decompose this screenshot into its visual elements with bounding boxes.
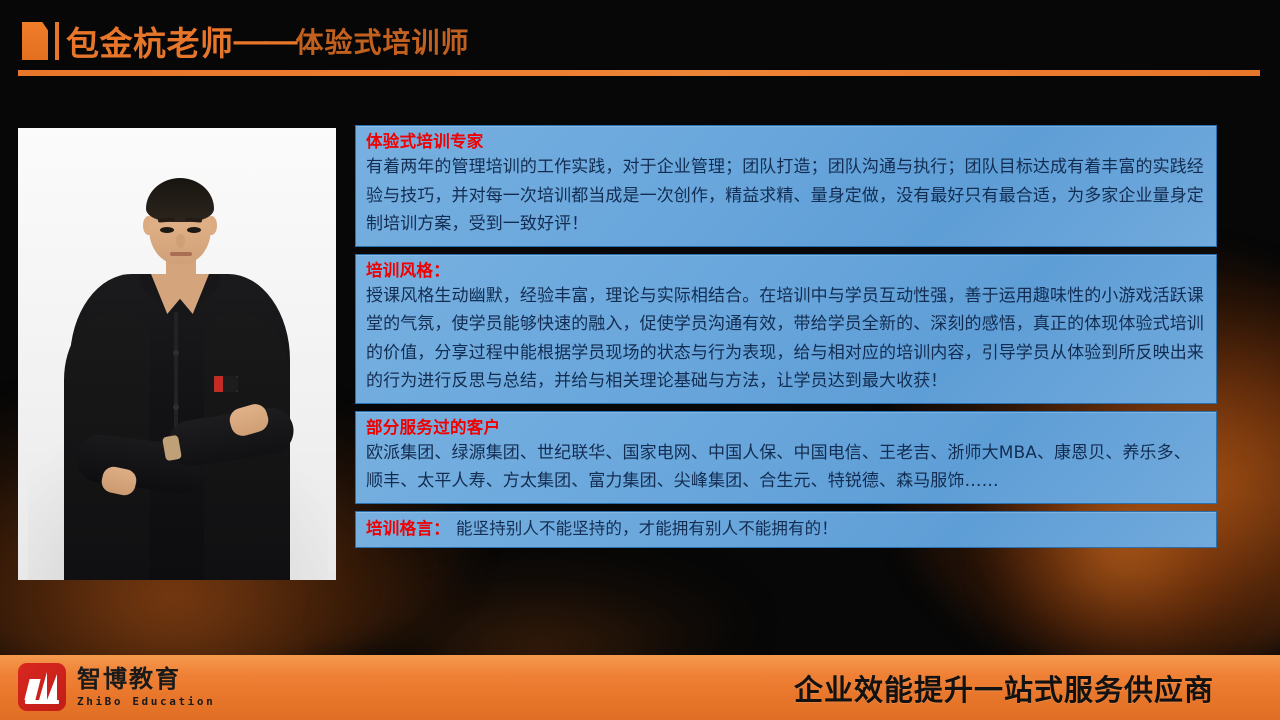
brand-name-en: ZhiBo Education — [77, 696, 215, 707]
orange-block-icon — [22, 22, 48, 60]
info-block-style: 培训风格： 授课风格生动幽默，经验丰富，理论与实际相结合。在培训中与学员互动性强… — [355, 254, 1217, 404]
figure-eye-right — [187, 227, 201, 233]
zhibo-sail-logo-icon — [18, 663, 66, 711]
info-block-body: 有着两年的管理培训的工作实践，对于企业管理；团队打造；团队沟通与执行；团队目标达… — [366, 153, 1206, 239]
info-block-motto: 培训格言： 能坚持别人不能坚持的，才能拥有别人不能拥有的！ — [355, 511, 1217, 548]
info-block-expert: 体验式培训专家 有着两年的管理培训的工作实践，对于企业管理；团队打造；团队沟通与… — [355, 125, 1217, 247]
brand-text: 智博教育 ZhiBo Education — [77, 667, 215, 707]
info-block-heading: 体验式培训专家 — [366, 130, 1206, 153]
portrait-figure — [18, 128, 336, 580]
figure-mouth — [170, 252, 192, 256]
info-block-heading: 部分服务过的客户 — [366, 416, 1206, 439]
figure-hair — [146, 178, 214, 222]
brand-name-cn: 智博教育 — [77, 667, 215, 691]
info-block-clients: 部分服务过的客户 欧派集团、绿源集团、世纪联华、国家电网、中国人保、中国电信、王… — [355, 411, 1217, 504]
figure-shirt-button-2 — [173, 404, 179, 410]
figure-nose — [176, 234, 185, 248]
page-title-sub: 体验式培训师 — [296, 21, 470, 61]
page-title-main: 包金杭老师 — [66, 17, 234, 65]
info-block-list: 体验式培训专家 有着两年的管理培训的工作实践，对于企业管理；团队打造；团队沟通与… — [355, 125, 1217, 548]
info-block-body: 欧派集团、绿源集团、世纪联华、国家电网、中国人保、中国电信、王老吉、浙师大MBA… — [366, 439, 1206, 496]
page-title-dash: —— — [234, 22, 296, 60]
slide-root: 包金杭老师 —— 体验式培训师 — [0, 0, 1280, 720]
orange-bar-icon — [55, 22, 59, 60]
figure-chest-badge — [214, 376, 238, 392]
figure-eye-left — [160, 227, 174, 233]
brand-lockup: 智博教育 ZhiBo Education — [18, 663, 215, 711]
figure-shirt-button-1 — [173, 350, 179, 356]
info-block-body: 授课风格生动幽默，经验丰富，理论与实际相结合。在培训中与学员互动性强，善于运用趣… — [366, 282, 1206, 396]
portrait-photo — [18, 128, 336, 580]
footer-slogan: 企业效能提升一站式服务供应商 — [794, 655, 1214, 720]
info-block-heading: 培训风格： — [366, 259, 1206, 282]
header-divider — [18, 70, 1260, 76]
slide-header: 包金杭老师 —— 体验式培训师 — [0, 0, 1280, 88]
info-block-body: 能坚持别人不能坚持的，才能拥有别人不能拥有的！ — [456, 517, 1206, 541]
page-title: 包金杭老师 —— 体验式培训师 — [66, 16, 470, 66]
info-block-heading: 培训格言： — [366, 517, 450, 540]
slide-footer: 智博教育 ZhiBo Education 企业效能提升一站式服务供应商 — [0, 655, 1280, 720]
